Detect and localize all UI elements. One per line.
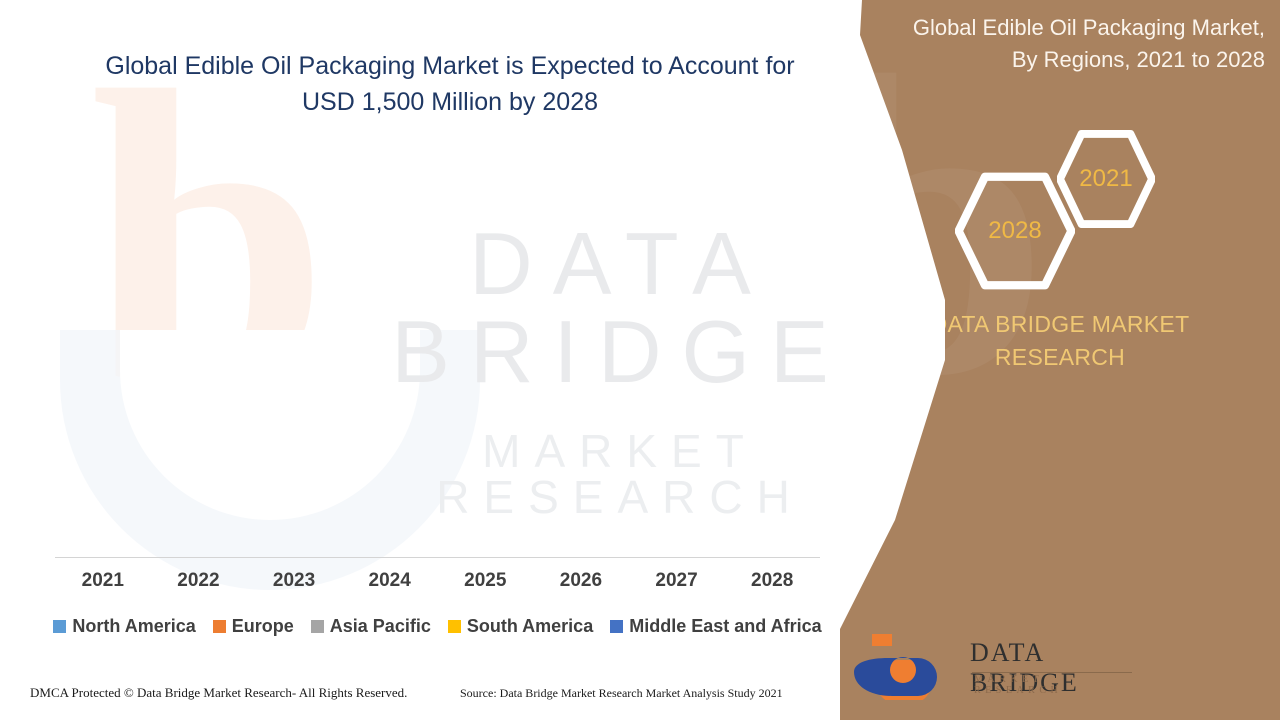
slide-root: b DATA BRIDGE MARKET RESEARCH Global Edi…: [0, 0, 1280, 720]
legend-item[interactable]: Asia Pacific: [311, 616, 431, 637]
chart-plot-area: [55, 160, 820, 558]
legend-swatch: [311, 620, 324, 633]
brand-name: DATA BRIDGE MARKET RESEARCH: [860, 308, 1260, 373]
legend-item[interactable]: North America: [53, 616, 195, 637]
legend-label: Europe: [232, 616, 294, 637]
hexagon-2021-label: 2021: [1057, 130, 1155, 228]
hexagon-2021: 2021: [1057, 130, 1155, 228]
legend-item[interactable]: Middle East and Africa: [610, 616, 821, 637]
data-bridge-logo: DATA BRIDGE MARKET RESEARCH: [850, 628, 1090, 708]
chart-legend: North AmericaEuropeAsia PacificSouth Ame…: [50, 616, 825, 637]
bar-group: [55, 160, 820, 557]
bar-slot: [438, 160, 534, 557]
hexagon-group: 2028 2021: [945, 130, 1175, 290]
legend-swatch: [213, 620, 226, 633]
logo-tagline: MARKET RESEARCH: [974, 674, 1090, 696]
panel-title: Global Edible Oil Packaging Market, By R…: [850, 12, 1275, 76]
bar-slot: [629, 160, 725, 557]
bar-slot: [55, 160, 151, 557]
x-axis-label: 2021: [55, 570, 151, 592]
x-axis-label: 2022: [151, 570, 247, 592]
footer-copyright: DMCA Protected © Data Bridge Market Rese…: [30, 685, 407, 701]
x-axis-label: 2025: [438, 570, 534, 592]
x-axis-label: 2027: [629, 570, 725, 592]
bar-slot: [724, 160, 820, 557]
x-axis-label: 2024: [342, 570, 438, 592]
footer-source: Source: Data Bridge Market Research Mark…: [460, 686, 783, 701]
chart-title: Global Edible Oil Packaging Market is Ex…: [60, 48, 840, 121]
legend-swatch: [53, 620, 66, 633]
legend-item[interactable]: South America: [448, 616, 593, 637]
bar-slot: [342, 160, 438, 557]
legend-label: South America: [467, 616, 593, 637]
legend-swatch: [448, 620, 461, 633]
x-axis-label: 2023: [246, 570, 342, 592]
bar-slot: [533, 160, 629, 557]
logo-divider: [972, 672, 1132, 673]
logo-mark-icon: [850, 628, 965, 700]
x-axis-label: 2026: [533, 570, 629, 592]
legend-swatch: [610, 620, 623, 633]
right-panel: b Global Edible Oil Packaging Market, By…: [840, 0, 1280, 720]
legend-label: Asia Pacific: [330, 616, 431, 637]
bar-slot: [151, 160, 247, 557]
x-axis-labels: 20212022202320242025202620272028: [55, 570, 820, 592]
legend-label: Middle East and Africa: [629, 616, 821, 637]
x-axis-label: 2028: [724, 570, 820, 592]
legend-label: North America: [72, 616, 195, 637]
x-axis-line: [55, 557, 820, 558]
legend-item[interactable]: Europe: [213, 616, 294, 637]
bar-slot: [246, 160, 342, 557]
